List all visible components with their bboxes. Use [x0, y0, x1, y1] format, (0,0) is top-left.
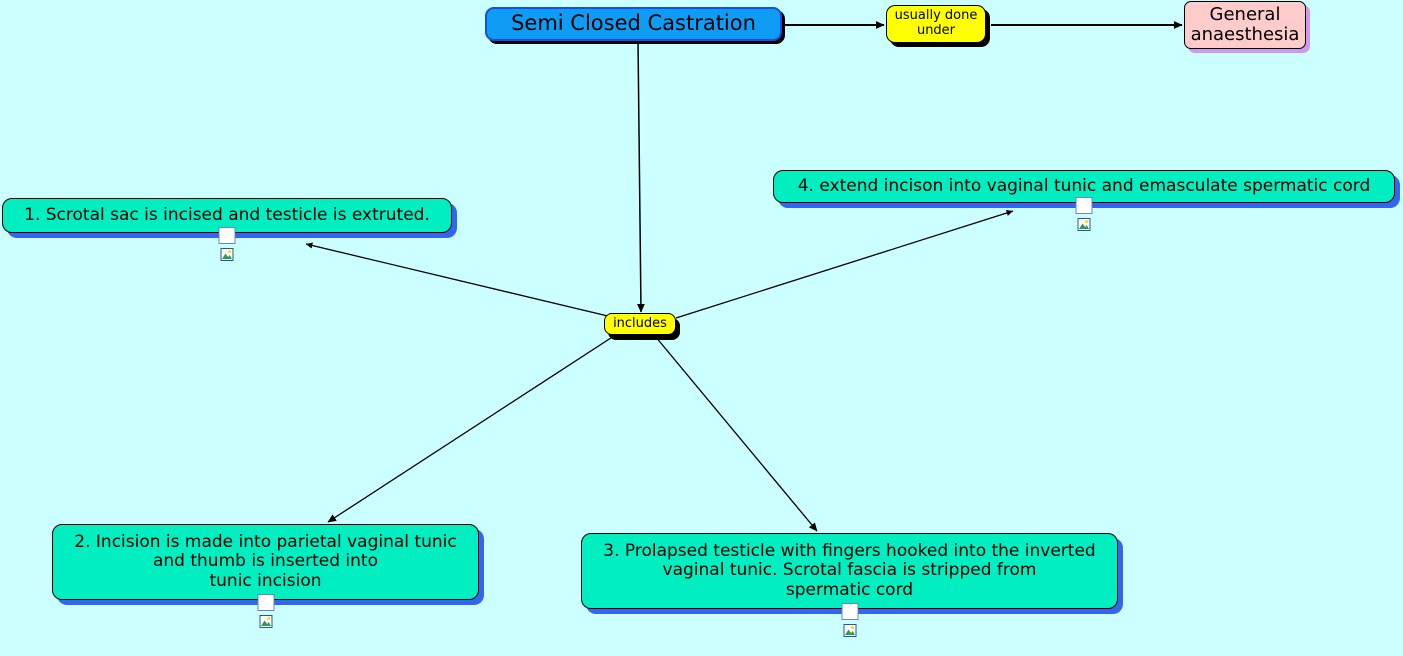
edge-includes-to-step-4 [676, 211, 1013, 318]
image-icon[interactable] [1076, 197, 1093, 214]
edge-includes-to-step-1 [306, 244, 612, 317]
concept-map-canvas: Semi Closed Castration usually done unde… [0, 0, 1403, 625]
image-icon[interactable] [257, 594, 274, 611]
node-semi-closed-castration[interactable]: Semi Closed Castration [485, 7, 782, 41]
node-label-text: 1. Scrotal sac is incised and testicle i… [24, 206, 430, 225]
node-step-3[interactable]: 3. Prolapsed testicle with fingers hooke… [581, 533, 1118, 609]
connector-label-usually-done-under[interactable]: usually done under [886, 5, 986, 43]
image-icon[interactable] [841, 603, 858, 620]
edge-includes-to-step-3 [655, 336, 817, 531]
node-label-text: 4. extend incison into vaginal tunic and… [798, 177, 1371, 196]
node-general-anaesthesia[interactable]: General anaesthesia [1184, 1, 1306, 49]
node-label-text: General anaesthesia [1191, 5, 1300, 45]
connector-label-text: includes [613, 317, 667, 332]
connector-label-includes[interactable]: includes [604, 313, 676, 335]
connector-label-text: usually done under [895, 9, 978, 38]
node-step-4[interactable]: 4. extend incison into vaginal tunic and… [773, 170, 1395, 203]
node-label-text: 2. Incision is made into parietal vagina… [74, 533, 456, 590]
node-label-text: 3. Prolapsed testicle with fingers hooke… [603, 542, 1095, 599]
node-step-2[interactable]: 2. Incision is made into parietal vagina… [52, 524, 479, 600]
edge-includes-to-step-2 [328, 334, 617, 522]
image-icon[interactable] [219, 227, 236, 244]
edge-root-to-includes [638, 41, 641, 312]
node-label-text: Semi Closed Castration [511, 12, 756, 36]
node-step-1[interactable]: 1. Scrotal sac is incised and testicle i… [2, 198, 452, 233]
